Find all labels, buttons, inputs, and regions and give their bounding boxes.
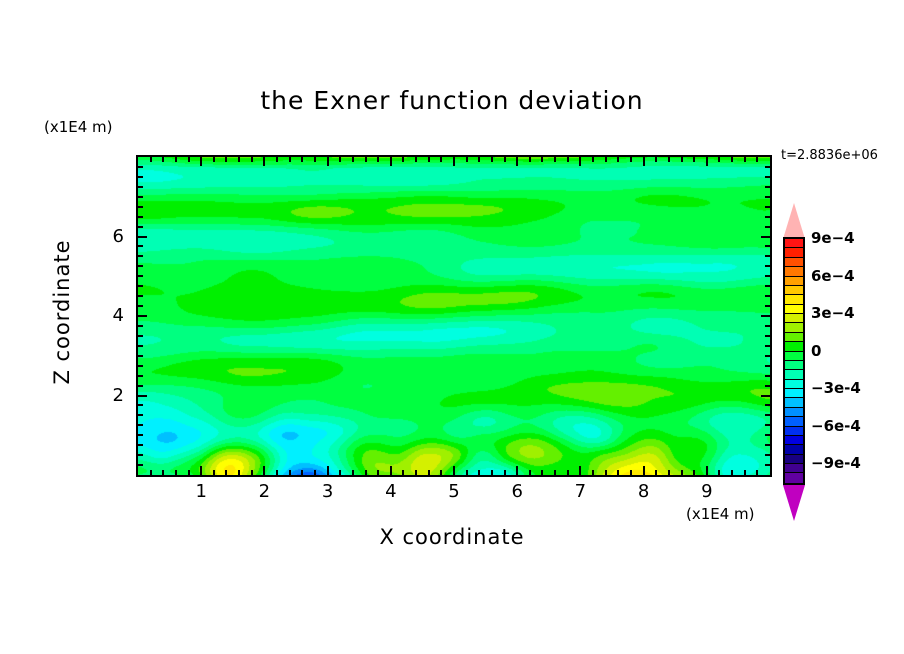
x-tick-minor	[352, 470, 354, 475]
x-tick-label: 2	[249, 481, 279, 502]
y-tick-minor	[138, 365, 143, 367]
y-tick-minor	[138, 285, 143, 287]
x-tick-minor	[466, 157, 468, 162]
y-tick-minor	[138, 196, 143, 198]
y-tick-minor	[138, 404, 143, 406]
y-tick-minor	[138, 345, 143, 347]
colorbar-segment	[785, 258, 803, 267]
x-tick-minor	[289, 470, 291, 475]
colorbar-segment	[785, 389, 803, 398]
colorbar-over-arrow	[783, 203, 805, 239]
x-tick-minor	[188, 470, 190, 475]
y-tick-minor	[765, 385, 770, 387]
x-tick-minor	[731, 157, 733, 162]
x-tick-label: 1	[186, 481, 216, 502]
x-tick-minor	[162, 157, 164, 162]
y-tick-minor	[765, 285, 770, 287]
colorbar-segment	[785, 408, 803, 417]
x-tick-minor	[491, 470, 493, 475]
x-tick-minor	[504, 157, 506, 162]
x-tick-label: 8	[629, 481, 659, 502]
x-tick-minor	[466, 470, 468, 475]
colorbar-segment	[785, 380, 803, 389]
x-tick-minor	[655, 157, 657, 162]
x-tick-minor	[756, 157, 758, 162]
colorbar-tick-label: 3e−4	[811, 304, 855, 322]
y-tick-minor	[765, 365, 770, 367]
colorbar-segment	[785, 305, 803, 314]
x-tick-minor	[377, 157, 379, 162]
y-tick-minor	[765, 355, 770, 357]
y-tick-minor	[138, 325, 143, 327]
colorbar-segment	[785, 427, 803, 436]
x-tick-minor	[617, 157, 619, 162]
x-tick-label: 9	[692, 481, 722, 502]
colorbar-segment	[785, 314, 803, 323]
colorbar-segment	[785, 277, 803, 286]
x-tick-minor	[365, 470, 367, 475]
x-tick-minor	[744, 157, 746, 162]
x-tick-major	[643, 466, 645, 475]
x-tick-label: 4	[376, 481, 406, 502]
y-tick-minor	[765, 216, 770, 218]
colorbar-tick-label: 9e−4	[811, 229, 855, 247]
y-tick-minor	[765, 454, 770, 456]
x-tick-minor	[301, 470, 303, 475]
x-tick-minor	[605, 157, 607, 162]
page-title: the Exner function deviation	[0, 86, 904, 115]
x-tick-minor	[175, 157, 177, 162]
x-tick-minor	[225, 157, 227, 162]
x-tick-major	[706, 466, 708, 475]
y-tick-minor	[765, 176, 770, 178]
y-tick-minor	[138, 245, 143, 247]
y-tick-minor	[765, 345, 770, 347]
x-tick-major	[200, 466, 202, 475]
colorbar-segment	[785, 333, 803, 342]
x-tick-minor	[554, 157, 556, 162]
y-tick-minor	[138, 444, 143, 446]
y-tick-minor	[138, 255, 143, 257]
colorbar-segment	[785, 248, 803, 257]
x-tick-minor	[693, 157, 695, 162]
x-tick-minor	[655, 470, 657, 475]
colorbar-segment	[785, 352, 803, 361]
colorbar-segment	[785, 370, 803, 379]
x-tick-minor	[504, 470, 506, 475]
y-tick-minor	[765, 325, 770, 327]
x-tick-minor	[150, 470, 152, 475]
y-tick-minor	[765, 265, 770, 267]
x-tick-major	[390, 466, 392, 475]
x-tick-minor	[339, 157, 341, 162]
x-tick-major	[263, 466, 265, 475]
x-tick-minor	[529, 157, 531, 162]
x-tick-minor	[681, 470, 683, 475]
x-tick-minor	[251, 470, 253, 475]
y-tick-minor	[138, 424, 143, 426]
colorbar-segment	[785, 455, 803, 464]
x-tick-minor	[415, 470, 417, 475]
y-tick-major	[761, 315, 770, 317]
x-tick-minor	[592, 470, 594, 475]
colorbar-segment	[785, 239, 803, 248]
x-tick-minor	[251, 157, 253, 162]
colorbar-scale	[783, 237, 805, 485]
x-tick-minor	[668, 470, 670, 475]
x-tick-minor	[630, 470, 632, 475]
y-axis-unit-label: (x1E4 m)	[44, 118, 113, 136]
colorbar-segment	[785, 295, 803, 304]
y-tick-minor	[138, 176, 143, 178]
y-tick-minor	[138, 355, 143, 357]
y-tick-minor	[765, 226, 770, 228]
y-tick-minor	[138, 295, 143, 297]
y-tick-minor	[138, 335, 143, 337]
x-tick-minor	[491, 157, 493, 162]
x-tick-minor	[440, 157, 442, 162]
colorbar-segment	[785, 436, 803, 445]
y-tick-major	[138, 395, 147, 397]
x-tick-minor	[554, 470, 556, 475]
x-tick-minor	[276, 470, 278, 475]
colorbar-segment	[785, 445, 803, 454]
y-tick-minor	[765, 434, 770, 436]
y-tick-minor	[765, 375, 770, 377]
x-tick-minor	[377, 470, 379, 475]
y-tick-minor	[138, 166, 143, 168]
y-tick-major	[761, 395, 770, 397]
x-tick-minor	[567, 157, 569, 162]
x-tick-minor	[592, 157, 594, 162]
y-tick-minor	[765, 295, 770, 297]
x-tick-major	[327, 466, 329, 475]
x-tick-minor	[567, 470, 569, 475]
y-axis-title: Z coordinate	[50, 197, 74, 427]
x-tick-label: 5	[439, 481, 469, 502]
x-tick-major	[516, 157, 518, 166]
x-tick-minor	[162, 470, 164, 475]
x-tick-minor	[301, 157, 303, 162]
contour-field	[138, 157, 770, 475]
y-tick-minor	[765, 404, 770, 406]
x-tick-minor	[731, 470, 733, 475]
y-tick-minor	[138, 216, 143, 218]
y-tick-minor	[138, 454, 143, 456]
y-tick-minor	[138, 305, 143, 307]
y-tick-minor	[765, 444, 770, 446]
y-tick-minor	[765, 255, 770, 257]
x-tick-minor	[352, 157, 354, 162]
x-tick-minor	[289, 157, 291, 162]
time-annotation: t=2.8836e+06	[781, 148, 878, 163]
x-tick-minor	[175, 470, 177, 475]
x-tick-major	[516, 466, 518, 475]
x-tick-minor	[681, 157, 683, 162]
x-tick-minor	[213, 470, 215, 475]
y-tick-minor	[138, 186, 143, 188]
y-tick-minor	[765, 245, 770, 247]
y-tick-minor	[765, 335, 770, 337]
x-tick-label: 6	[502, 481, 532, 502]
x-tick-minor	[150, 157, 152, 162]
y-tick-minor	[765, 424, 770, 426]
x-tick-minor	[188, 157, 190, 162]
colorbar-segment	[785, 342, 803, 351]
x-tick-major	[200, 157, 202, 166]
x-tick-minor	[756, 470, 758, 475]
y-tick-minor	[138, 226, 143, 228]
x-tick-minor	[276, 157, 278, 162]
y-tick-minor	[765, 275, 770, 277]
x-tick-major	[706, 157, 708, 166]
y-tick-label: 6	[94, 226, 124, 247]
x-tick-minor	[238, 470, 240, 475]
y-tick-minor	[138, 414, 143, 416]
x-tick-minor	[541, 157, 543, 162]
y-tick-minor	[138, 206, 143, 208]
y-tick-minor	[765, 206, 770, 208]
x-tick-minor	[213, 157, 215, 162]
x-tick-major	[327, 157, 329, 166]
x-tick-major	[453, 157, 455, 166]
y-tick-minor	[765, 414, 770, 416]
x-tick-major	[579, 466, 581, 475]
y-tick-major	[761, 236, 770, 238]
x-tick-minor	[668, 157, 670, 162]
x-tick-major	[390, 157, 392, 166]
y-tick-minor	[138, 275, 143, 277]
x-tick-major	[579, 157, 581, 166]
x-tick-minor	[630, 157, 632, 162]
x-tick-minor	[225, 470, 227, 475]
colorbar-tick-label: 6e−4	[811, 267, 855, 285]
contour-plot-area	[136, 155, 772, 477]
x-tick-minor	[314, 157, 316, 162]
x-tick-minor	[238, 157, 240, 162]
x-tick-minor	[415, 157, 417, 162]
x-tick-minor	[478, 157, 480, 162]
y-tick-minor	[138, 385, 143, 387]
x-tick-minor	[402, 470, 404, 475]
y-tick-minor	[765, 464, 770, 466]
x-tick-major	[643, 157, 645, 166]
y-tick-minor	[765, 166, 770, 168]
x-tick-minor	[617, 470, 619, 475]
x-tick-minor	[744, 470, 746, 475]
colorbar-segment	[785, 323, 803, 332]
y-tick-major	[138, 315, 147, 317]
colorbar-segment	[785, 286, 803, 295]
x-tick-minor	[693, 470, 695, 475]
colorbar-segment	[785, 361, 803, 370]
x-tick-minor	[440, 470, 442, 475]
x-tick-minor	[428, 157, 430, 162]
colorbar-under-arrow	[783, 485, 805, 521]
x-axis-unit-label: (x1E4 m)	[686, 505, 755, 523]
colorbar-tick-label: 0	[811, 342, 821, 360]
colorbar-segment	[785, 464, 803, 473]
x-tick-minor	[718, 157, 720, 162]
y-tick-label: 4	[94, 305, 124, 326]
x-tick-minor	[605, 470, 607, 475]
y-tick-minor	[138, 265, 143, 267]
colorbar-tick-label: −6e-4	[811, 417, 861, 435]
y-tick-minor	[765, 196, 770, 198]
x-tick-minor	[718, 470, 720, 475]
x-tick-label: 3	[313, 481, 343, 502]
colorbar-tick-label: −3e-4	[811, 379, 861, 397]
colorbar-segment	[785, 267, 803, 276]
colorbar-segment	[785, 473, 803, 482]
colorbar-tick-label: −9e-4	[811, 454, 861, 472]
colorbar-segment	[785, 417, 803, 426]
x-tick-minor	[402, 157, 404, 162]
x-tick-minor	[478, 470, 480, 475]
x-tick-minor	[365, 157, 367, 162]
y-tick-major	[138, 236, 147, 238]
x-tick-minor	[314, 470, 316, 475]
x-tick-label: 7	[565, 481, 595, 502]
x-tick-major	[453, 466, 455, 475]
y-tick-minor	[138, 464, 143, 466]
y-tick-minor	[138, 375, 143, 377]
x-tick-minor	[541, 470, 543, 475]
x-axis-title: X coordinate	[0, 525, 904, 549]
colorbar-segment	[785, 398, 803, 407]
x-tick-minor	[529, 470, 531, 475]
y-tick-minor	[138, 434, 143, 436]
x-tick-minor	[428, 470, 430, 475]
y-tick-label: 2	[94, 385, 124, 406]
y-tick-minor	[765, 305, 770, 307]
colorbar	[783, 203, 805, 521]
x-tick-minor	[339, 470, 341, 475]
x-tick-major	[263, 157, 265, 166]
y-tick-minor	[765, 186, 770, 188]
